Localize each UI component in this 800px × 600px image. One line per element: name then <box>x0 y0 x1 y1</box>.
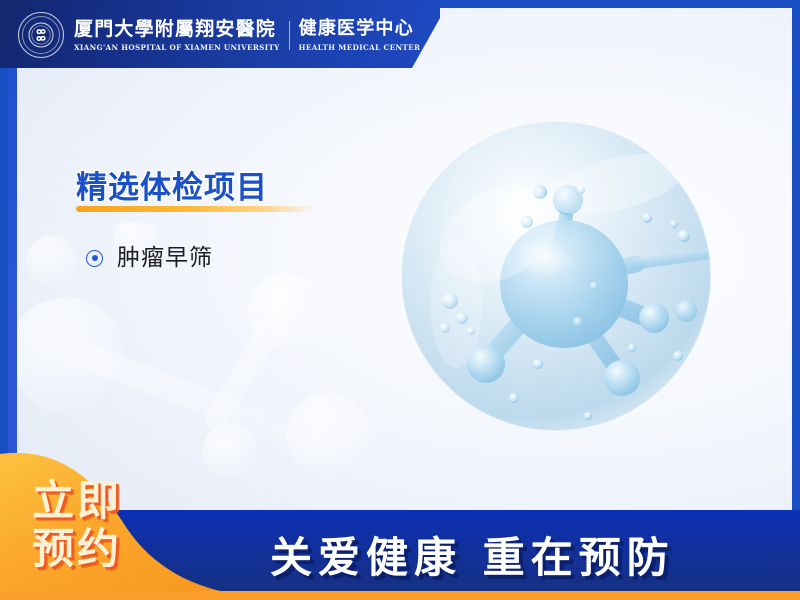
poster-background: 精选体检项目 肿瘤早筛 <box>8 8 792 592</box>
left-accent-strip <box>8 60 17 480</box>
footer-slogan: 关爱健康 重在预防 <box>270 532 675 584</box>
cta-line-1: 立即 <box>32 477 122 525</box>
center-name-group: 健康医学中心 HEALTH MEDICAL CENTER <box>299 18 421 53</box>
center-name-cn: 健康医学中心 <box>299 18 421 40</box>
hospital-name-en: XIANG'AN HOSPITAL OF XIAMEN UNIVERSITY <box>74 42 280 53</box>
cta-book-now[interactable]: 立即 预约 <box>32 477 122 573</box>
header-bar: 厦門大學附屬翔安醫院 XIANG'AN HOSPITAL OF XIAMEN U… <box>0 0 440 68</box>
center-name-en: HEALTH MEDICAL CENTER <box>299 42 421 53</box>
hospital-name-cn: 厦門大學附屬翔安醫院 <box>74 18 280 40</box>
molecule-sphere-image <box>386 106 726 446</box>
header-brand: 厦門大學附屬翔安醫院 XIANG'AN HOSPITAL OF XIAMEN U… <box>18 12 420 58</box>
cta-line-2: 预约 <box>32 525 122 573</box>
footer-orange-strip <box>0 591 800 600</box>
headline-block: 精选体检项目 <box>76 168 316 212</box>
hospital-name-group: 厦門大學附屬翔安醫院 XIANG'AN HOSPITAL OF XIAMEN U… <box>74 18 280 53</box>
list-item: 肿瘤早筛 <box>86 244 213 272</box>
list-item-label: 肿瘤早筛 <box>117 244 213 272</box>
brand-names: 厦門大學附屬翔安醫院 XIANG'AN HOSPITAL OF XIAMEN U… <box>74 18 420 53</box>
radio-dot-icon <box>86 250 103 267</box>
page-title: 精选体检项目 <box>76 168 316 208</box>
hospital-crest-icon <box>18 12 64 58</box>
poster-canvas: 精选体检项目 肿瘤早筛 厦門大學附屬翔安醫院 <box>0 0 800 600</box>
brand-divider <box>289 21 290 50</box>
